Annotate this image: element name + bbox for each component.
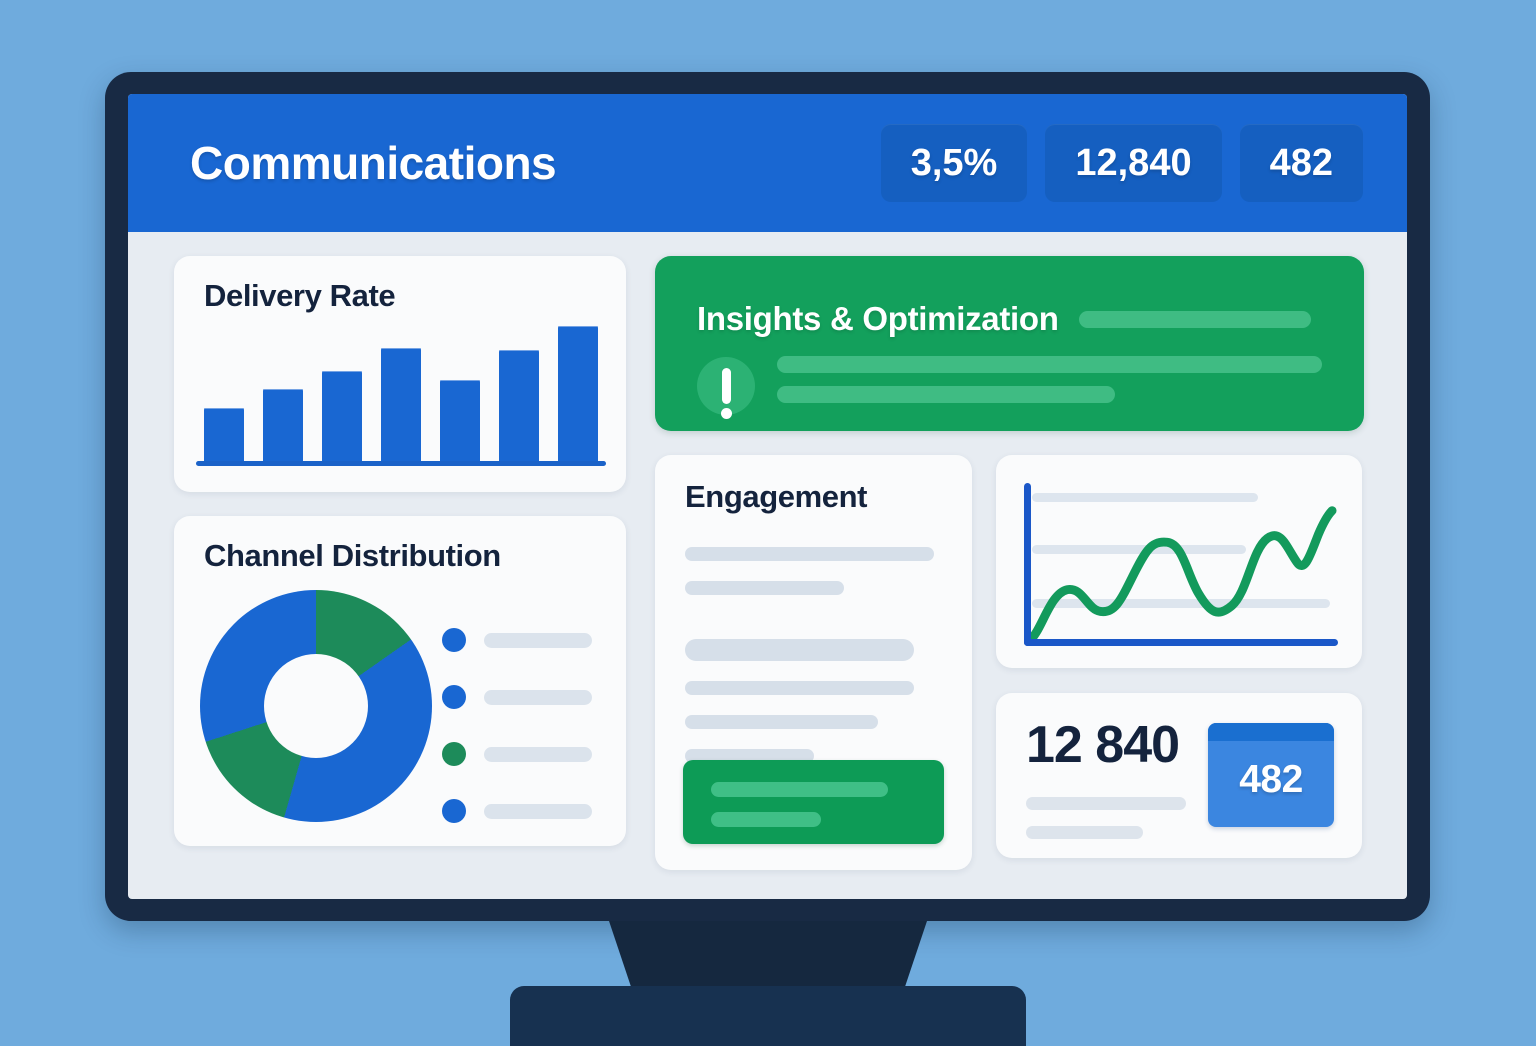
messages-sent-badge[interactable]: 12,840 (1045, 124, 1221, 202)
metrics-card[interactable]: 12 840 482 (996, 693, 1362, 858)
insights-header: Insights & Optimization (655, 256, 1364, 338)
placeholder-line (777, 356, 1322, 373)
legend-dot-icon (442, 685, 466, 709)
header-badge-group: 3,5% 12,840 482 (881, 124, 1363, 202)
bar (558, 326, 598, 463)
legend-item[interactable] (442, 628, 592, 652)
legend-label-placeholder (484, 804, 592, 819)
placeholder-line (685, 581, 844, 595)
bar (499, 350, 539, 463)
legend-dot-icon (442, 628, 466, 652)
trend-chart-plot (1024, 483, 1338, 646)
placeholder-line (777, 386, 1115, 403)
delivery-rate-badge[interactable]: 3,5% (881, 124, 1028, 202)
insights-text-placeholders (777, 356, 1364, 416)
donut-ring (200, 590, 432, 822)
insights-body (655, 338, 1364, 416)
legend-dot-icon (442, 742, 466, 766)
spacer (685, 615, 942, 639)
bar (440, 380, 480, 463)
insights-header-placeholder (1079, 311, 1311, 328)
chart-axis-x (196, 461, 606, 466)
engagement-title: Engagement (685, 479, 942, 515)
dashboard-body: Delivery Rate Channel Distribution (128, 232, 1407, 899)
placeholder-line (685, 547, 934, 561)
placeholder-line (685, 639, 914, 661)
trend-chart-card[interactable] (996, 455, 1362, 668)
page-title: Communications (190, 136, 556, 190)
secondary-metric-value: 482 (1239, 758, 1303, 802)
middle-column: Engagement (655, 455, 972, 870)
chart-axis-x (1024, 639, 1338, 646)
exclamation-circle-icon (697, 357, 755, 415)
delivery-rate-bar-chart (204, 312, 598, 462)
insights-banner[interactable]: Insights & Optimization (655, 256, 1364, 431)
right-column: 12 840 482 (996, 455, 1362, 858)
engagement-placeholders (685, 547, 942, 763)
legend-label-placeholder (484, 690, 592, 705)
placeholder-line (711, 812, 821, 827)
legend-dot-icon (442, 799, 466, 823)
channel-distribution-card[interactable]: Channel Distribution (174, 516, 626, 846)
placeholder-line (685, 681, 914, 695)
channel-distribution-title: Channel Distribution (204, 538, 600, 574)
campaigns-badge[interactable]: 482 (1240, 124, 1363, 202)
legend-item[interactable] (442, 799, 592, 823)
legend-label-placeholder (484, 747, 592, 762)
legend-item[interactable] (442, 685, 592, 709)
placeholder-line (711, 782, 888, 797)
exclamation-glyph (722, 368, 731, 404)
chart-axis-y (1024, 483, 1031, 646)
bar (204, 408, 244, 462)
placeholder-line (1026, 797, 1186, 810)
engagement-highlight-block[interactable] (683, 760, 944, 844)
insights-title: Insights & Optimization (697, 300, 1059, 338)
legend-label-placeholder (484, 633, 592, 648)
dashboard-illustration: Communications 3,5% 12,840 482 Delivery … (0, 0, 1536, 1024)
delivery-rate-card[interactable]: Delivery Rate (174, 256, 626, 492)
panel-title-bar (1208, 723, 1334, 741)
monitor-screen: Communications 3,5% 12,840 482 Delivery … (128, 94, 1407, 899)
bar (322, 371, 362, 463)
donut-legend (442, 628, 592, 856)
app-header: Communications 3,5% 12,840 482 (128, 94, 1407, 232)
engagement-card[interactable]: Engagement (655, 455, 972, 870)
placeholder-line (1026, 826, 1143, 839)
placeholder-line (685, 715, 878, 729)
channel-distribution-donut (200, 590, 432, 822)
bar (263, 389, 303, 463)
monitor-stand-base (510, 986, 1026, 1046)
bar (381, 348, 421, 462)
trend-line-series (1024, 483, 1338, 646)
left-column: Delivery Rate Channel Distribution (174, 256, 626, 846)
secondary-metric-panel[interactable]: 482 (1208, 723, 1334, 827)
delivery-rate-title: Delivery Rate (204, 278, 600, 314)
legend-item[interactable] (442, 742, 592, 766)
